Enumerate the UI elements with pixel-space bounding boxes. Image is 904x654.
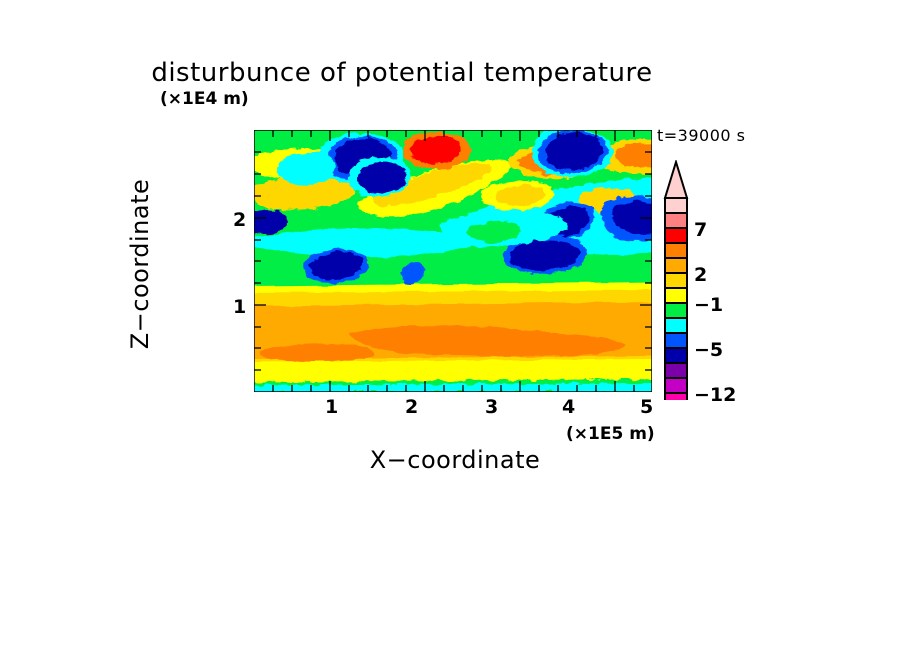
x-tick-label-1: 1 xyxy=(325,396,338,418)
timestamp-label: t=39000 s xyxy=(657,126,746,145)
x-tick-label-3: 3 xyxy=(485,396,498,418)
page-title: disturbunce of potential temperature xyxy=(0,58,904,88)
x-axis-title: X−coordinate xyxy=(255,446,655,474)
y-tick-label-1: 1 xyxy=(233,296,246,318)
contour-field xyxy=(254,130,652,392)
colorbar-label-m12: −12 xyxy=(694,384,736,406)
page-title-text: disturbunce of potential temperature xyxy=(151,58,652,88)
contour-plot xyxy=(254,130,652,392)
x-unit-label: (×1E5 m) xyxy=(566,424,655,444)
y-tick-label-2: 2 xyxy=(233,209,246,231)
x-tick-label-2: 2 xyxy=(405,396,418,418)
colorbar-label-7: 7 xyxy=(694,219,707,241)
z-unit-label: (×1E4 m) xyxy=(160,89,249,109)
x-tick-label-5: 5 xyxy=(640,396,653,418)
colorbar-label-m1: −1 xyxy=(694,294,723,316)
y-axis-title: Z−coordinate xyxy=(126,114,154,414)
colorbar-label-m5: −5 xyxy=(694,339,723,361)
colorbar-label-2: 2 xyxy=(694,264,707,286)
x-tick-label-4: 4 xyxy=(562,396,575,418)
